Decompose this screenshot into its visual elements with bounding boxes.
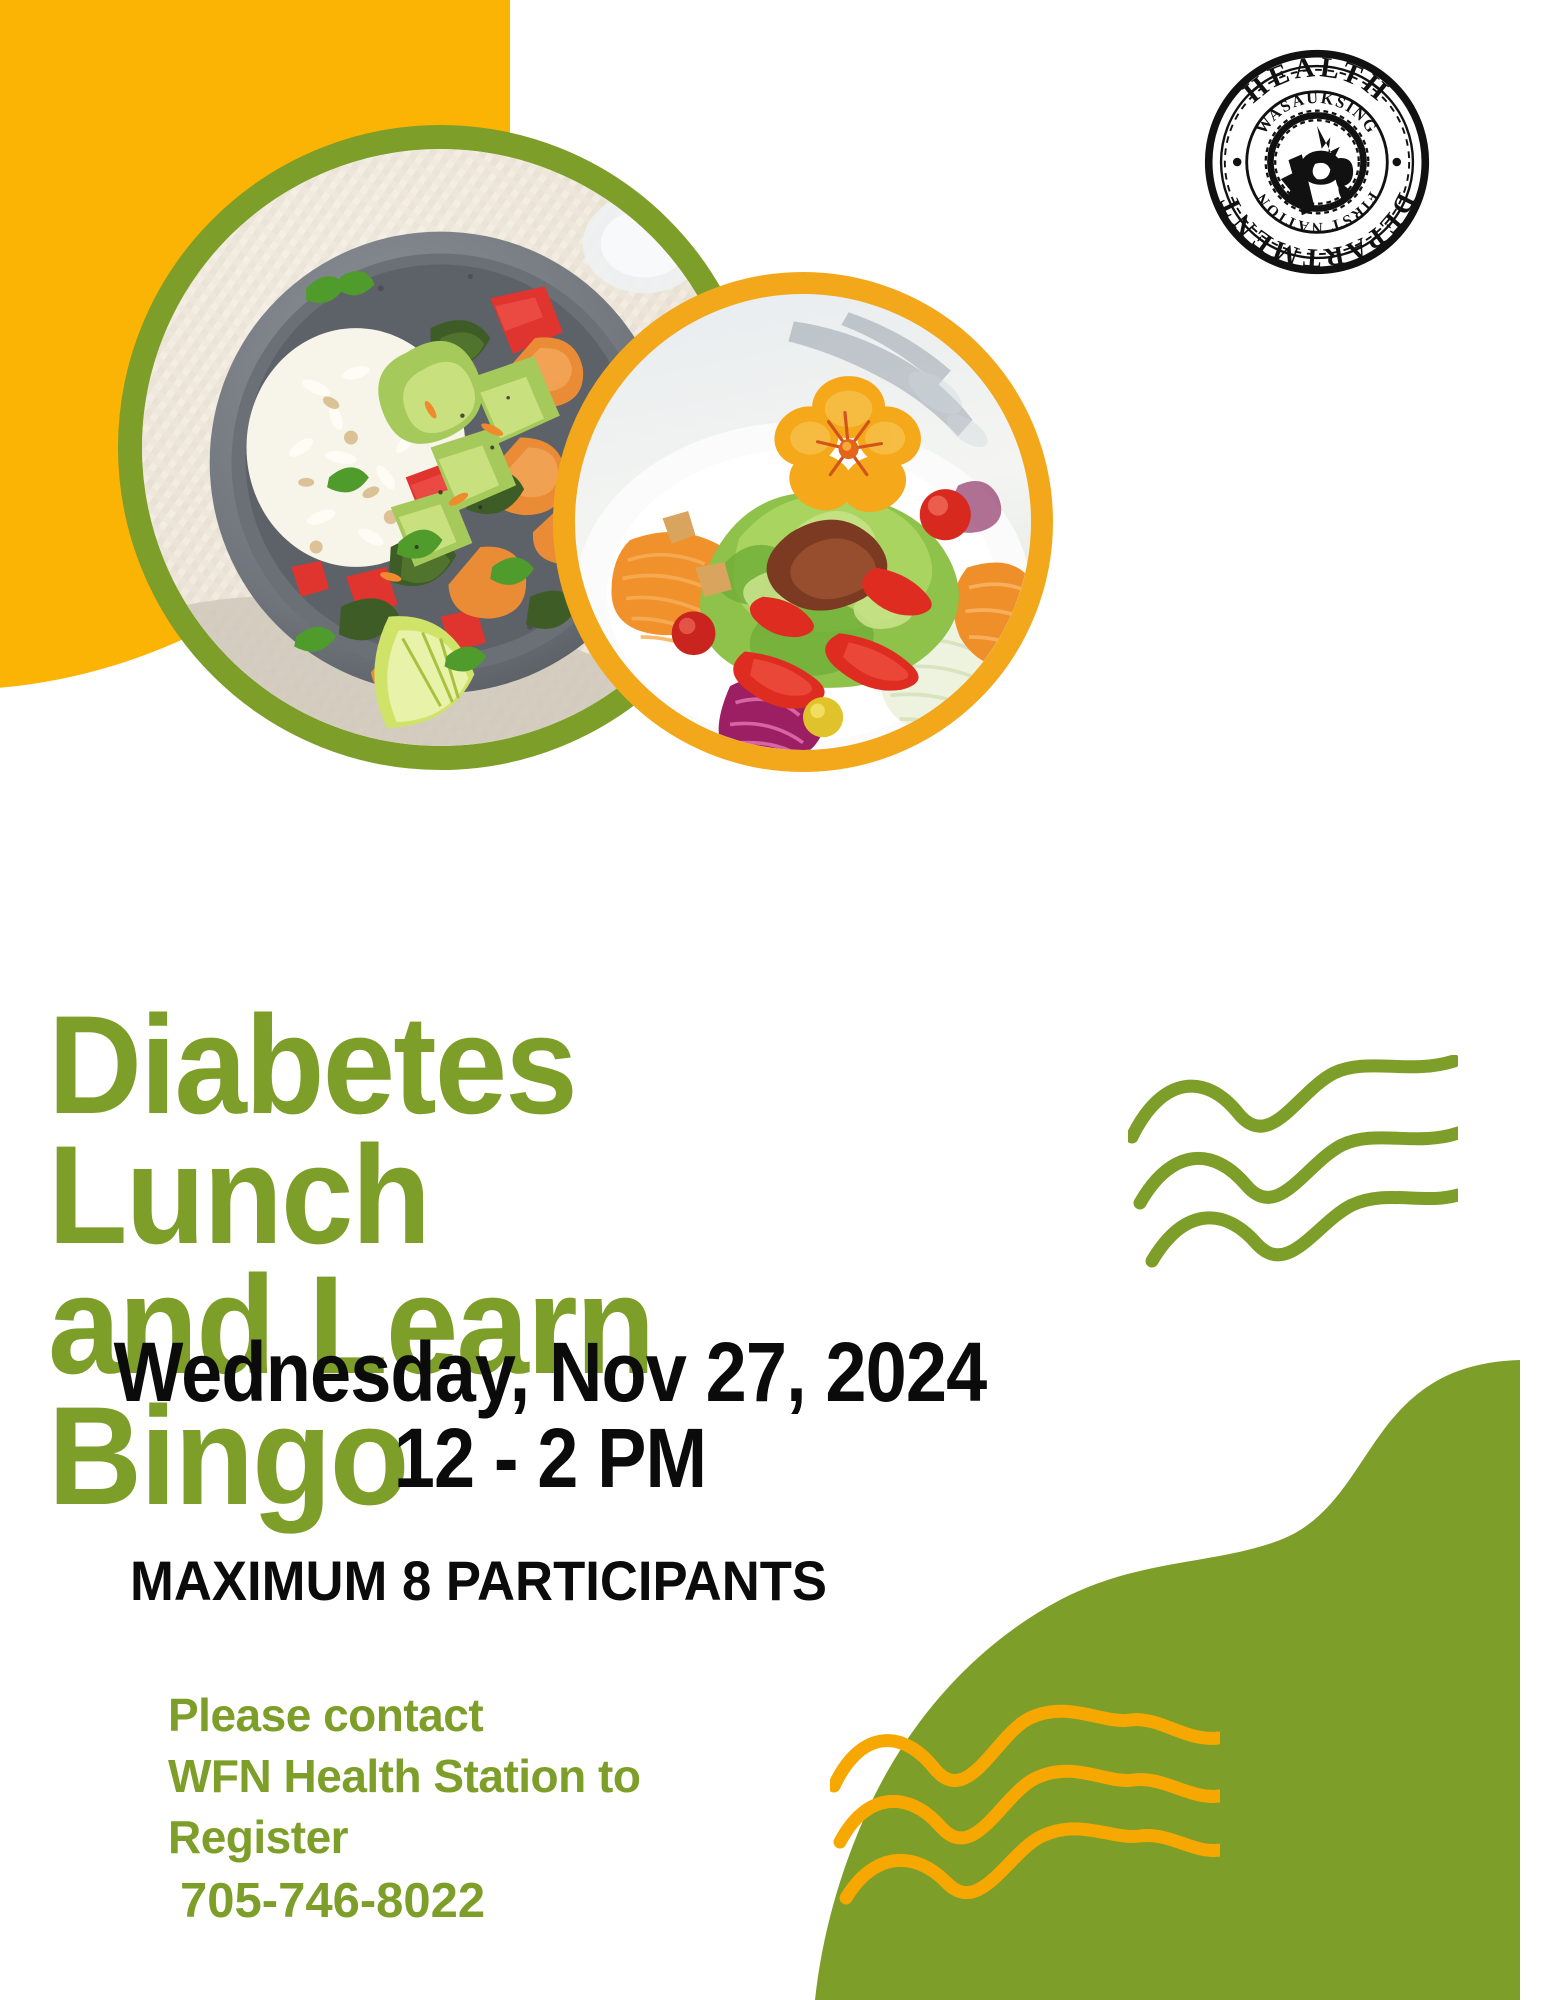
poster-text-layer: Diabetes Lunch and Learn Bingo Wednesday… xyxy=(0,0,1545,2000)
contact-line-2: WFN Health Station to xyxy=(168,1746,640,1807)
event-time: 12 - 2 PM xyxy=(66,1416,1034,1502)
contact-line-3: Register xyxy=(168,1807,640,1868)
capacity-note: MAXIMUM 8 PARTICIPANTS xyxy=(130,1548,827,1613)
event-date: Wednesday, Nov 27, 2024 xyxy=(66,1330,1034,1416)
contact-line-1: Please contact xyxy=(168,1685,640,1746)
title-line-1: Diabetes Lunch xyxy=(48,986,576,1273)
contact-block: Please contact WFN Health Station to Reg… xyxy=(168,1685,640,1934)
event-datetime: Wednesday, Nov 27, 2024 12 - 2 PM xyxy=(66,1330,1034,1501)
contact-phone-number[interactable]: 705-746-8022 xyxy=(180,1869,640,1934)
